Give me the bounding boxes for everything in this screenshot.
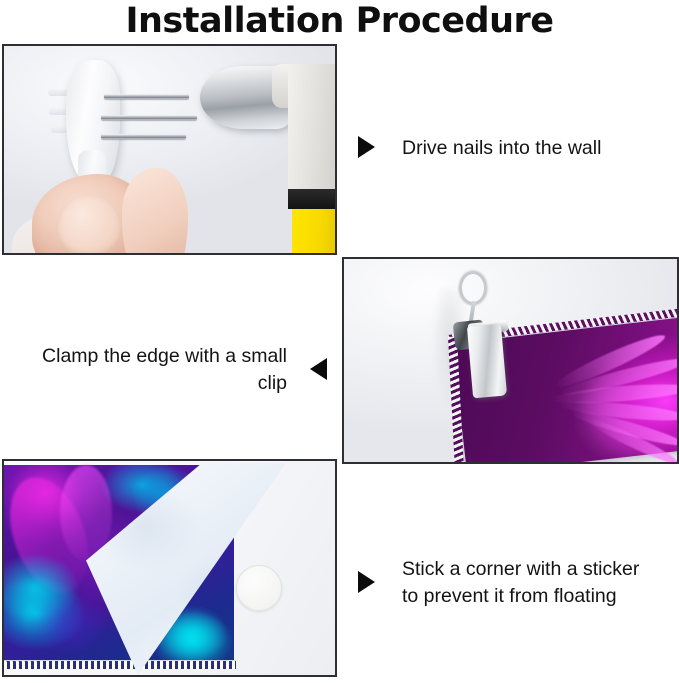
clip-hanging-ring bbox=[459, 271, 487, 305]
triangle-left-icon bbox=[310, 358, 327, 380]
step-3-photo bbox=[2, 459, 337, 677]
step-1-text: Drive nails into the wall bbox=[402, 135, 601, 162]
step-1-caption: Drive nails into the wall bbox=[358, 108, 658, 188]
step-3-text: Stick a corner with a sticker to prevent… bbox=[402, 556, 658, 610]
step-2-caption: Clamp the edge with a small clip bbox=[22, 330, 327, 410]
hammer-shaft bbox=[288, 64, 337, 192]
nail-pin-bottom bbox=[101, 134, 186, 139]
step-1-photo bbox=[2, 44, 337, 255]
step-3-caption: Stick a corner with a sticker to prevent… bbox=[358, 530, 658, 635]
thumbnail bbox=[56, 196, 122, 255]
hammer-collar bbox=[288, 189, 337, 209]
step-2-text: Clamp the edge with a small clip bbox=[22, 343, 287, 397]
step-2-photo bbox=[342, 257, 679, 464]
tapestry-stitched-hem-bottom bbox=[4, 660, 236, 669]
triangle-right-icon bbox=[358, 571, 375, 593]
hammer-yellow-handle bbox=[292, 209, 337, 255]
adhesive-sticker bbox=[236, 565, 282, 611]
fluid-swirl bbox=[28, 591, 108, 655]
page-title: Installation Procedure bbox=[0, 0, 679, 42]
triangle-right-icon bbox=[358, 136, 375, 158]
clip-body bbox=[467, 324, 507, 399]
index-finger bbox=[122, 168, 188, 255]
nail-pin-middle bbox=[101, 115, 197, 120]
infographic-page: Installation Procedure Drive nails into … bbox=[0, 0, 679, 683]
nail-pin-top bbox=[104, 94, 189, 99]
